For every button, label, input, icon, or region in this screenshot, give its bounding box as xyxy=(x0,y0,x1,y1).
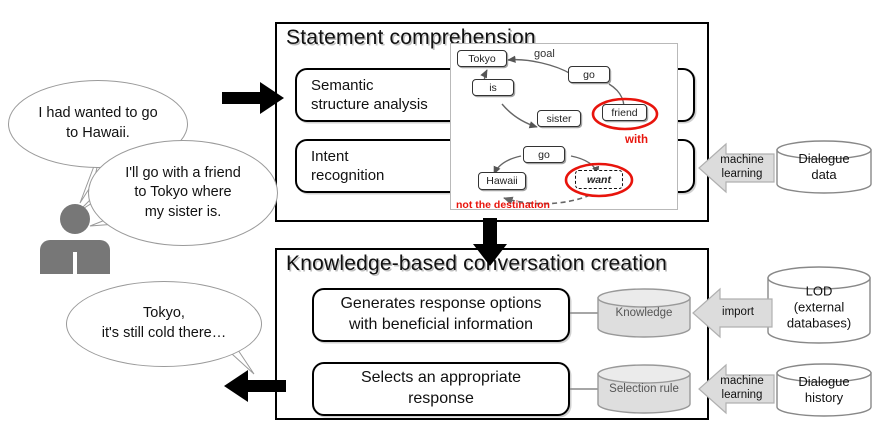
box-generate-response-options[interactable]: Generates response options with benefici… xyxy=(312,288,570,342)
arrow-machine-learning-bottom: machine learning xyxy=(698,364,774,414)
node-want[interactable]: want xyxy=(575,170,623,189)
node-go-1[interactable]: go xyxy=(568,66,610,83)
node-label: go xyxy=(583,69,595,81)
node-friend[interactable]: friend xyxy=(602,104,647,121)
arrow-label: machine learning xyxy=(698,154,774,182)
node-hawaii[interactable]: Hawaii xyxy=(478,172,526,190)
node-label: sister xyxy=(546,113,571,125)
bubble-text: Tokyo, it's still cold there… xyxy=(102,304,226,343)
node-go-2[interactable]: go xyxy=(523,146,565,163)
store-label: Knowledge xyxy=(596,306,692,320)
node-label: friend xyxy=(611,107,637,119)
store-selection-rule[interactable]: Selection rule xyxy=(596,364,692,414)
annotation-not-the-destination: not the destination xyxy=(456,199,550,211)
box-label: Selects an appropriate response xyxy=(361,368,521,410)
store-lod[interactable]: LOD (external databases) xyxy=(766,266,872,346)
speech-bubble-2: I'll go with a friend to Tokyo where my … xyxy=(88,140,278,246)
node-label: Hawaii xyxy=(486,175,518,187)
arrow-machine-learning-top: machine learning xyxy=(698,143,774,193)
panel-title-bottom: Knowledge-based conversation creation xyxy=(286,252,667,276)
store-label: Selection rule xyxy=(596,382,692,396)
store-label: LOD (external databases) xyxy=(766,283,872,332)
person-head-icon xyxy=(60,204,90,234)
box-label: Semantic structure analysis xyxy=(297,76,428,115)
node-label: is xyxy=(489,82,497,94)
store-dialogue-data[interactable]: Dialogue data xyxy=(775,140,873,194)
store-dialogue-history[interactable]: Dialogue history xyxy=(775,362,873,418)
diagram-canvas: Statement comprehension Semantic structu… xyxy=(0,0,880,430)
node-is[interactable]: is xyxy=(472,79,514,96)
node-sister[interactable]: sister xyxy=(537,110,581,127)
store-label: Dialogue history xyxy=(775,374,873,407)
person-body-split xyxy=(73,252,77,274)
node-label: go xyxy=(538,149,550,161)
node-label: want xyxy=(587,174,611,186)
arrow-import: import xyxy=(692,288,772,338)
store-label: Dialogue data xyxy=(775,151,873,184)
arrow-label: import xyxy=(692,306,772,320)
speech-bubble-3: Tokyo, it's still cold there… xyxy=(66,281,262,367)
edge-label-goal: goal xyxy=(534,48,555,60)
arrow-label: machine learning xyxy=(698,375,774,403)
box-label: Generates response options with benefici… xyxy=(340,294,541,336)
node-tokyo[interactable]: Tokyo xyxy=(457,50,507,67)
bubble-text: I had wanted to go to Hawaii. xyxy=(38,104,157,143)
box-select-appropriate-response[interactable]: Selects an appropriate response xyxy=(312,362,570,416)
annotation-with: with xyxy=(625,134,648,146)
node-label: Tokyo xyxy=(468,53,495,65)
store-knowledge[interactable]: Knowledge xyxy=(596,288,692,338)
box-label: Intent recognition xyxy=(297,147,384,186)
bubble-text: I'll go with a friend to Tokyo where my … xyxy=(125,164,241,223)
